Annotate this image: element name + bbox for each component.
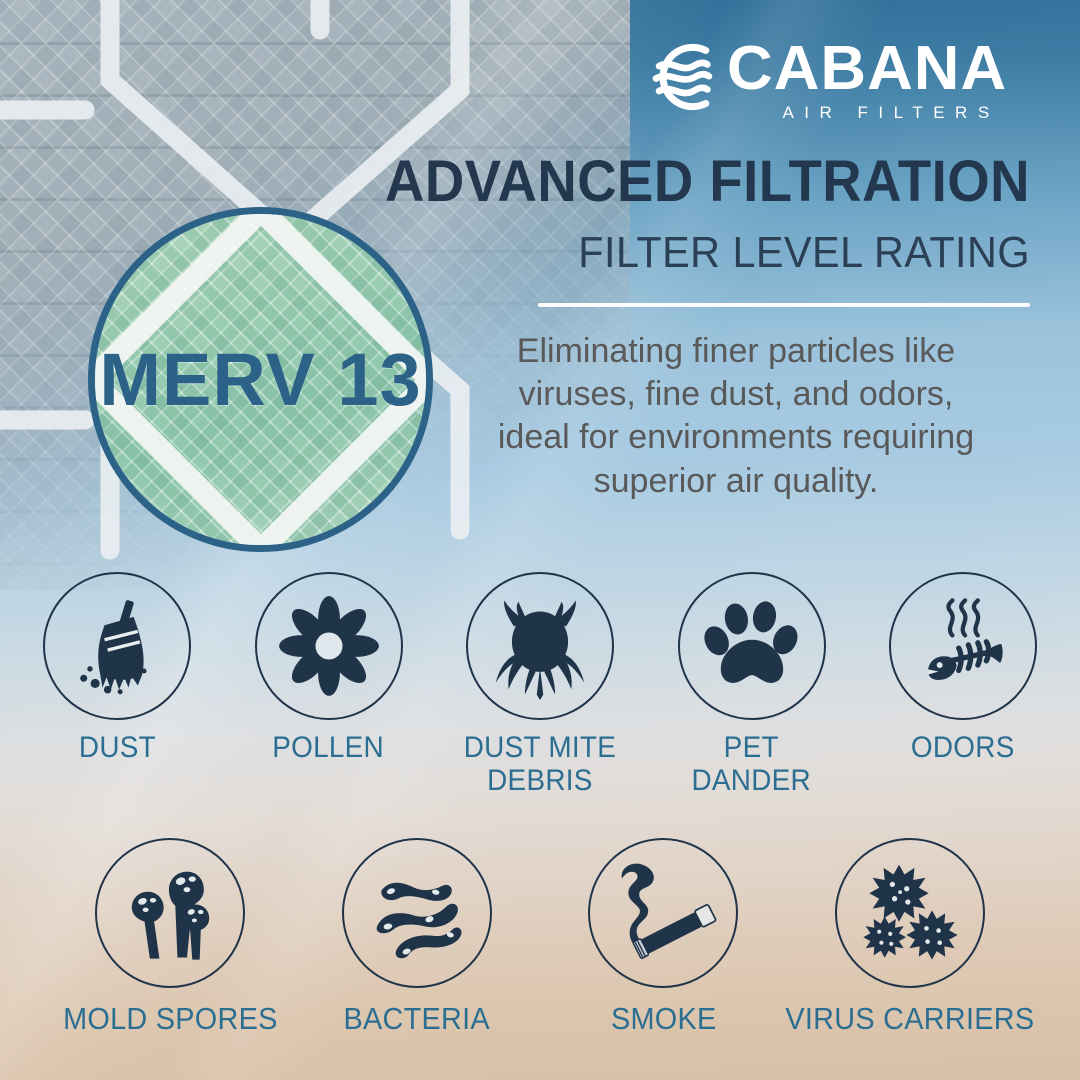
- poster-canvas: CABANA AIR FILTERS ADVANCED FILTRATION F…: [0, 0, 1080, 1080]
- virus-carriers-label: VIRUS CARRIERS: [785, 1002, 1034, 1036]
- broom-icon: [65, 594, 169, 698]
- pet-dander-badge: [678, 572, 826, 720]
- page-subtitle: FILTER LEVEL RATING: [372, 228, 1030, 278]
- brand-name: CABANA: [727, 40, 1007, 99]
- contaminant-item-pet-dander: PET DANDER: [659, 572, 845, 797]
- odors-badge: [889, 572, 1037, 720]
- pet-dander-label-line2: DANDER: [692, 764, 811, 797]
- contaminant-item-odors: ODORS: [870, 572, 1056, 797]
- contaminant-item-bacteria: BACTERIA: [305, 838, 529, 1036]
- dust-badge: [43, 572, 191, 720]
- wave-circle-icon: [645, 38, 723, 116]
- merv-rating-label: MERV 13: [95, 214, 426, 545]
- flower-icon: [277, 594, 381, 698]
- dust-mite-label: DUST MITE DEBRIS: [464, 731, 616, 797]
- pollen-badge: [255, 572, 403, 720]
- contaminant-item-dust: DUST: [24, 572, 210, 797]
- description-text: Eliminating finer particles like viruses…: [440, 330, 1032, 503]
- dust-mite-icon: [486, 592, 594, 700]
- description-line-2: viruses, fine dust, and odors,: [440, 373, 1032, 416]
- dust-label: DUST: [78, 731, 155, 764]
- smoke-label: SMOKE: [611, 1002, 717, 1036]
- bacteria-icon: [365, 861, 469, 965]
- bacteria-label: BACTERIA: [343, 1002, 489, 1036]
- paw-print-icon: [700, 594, 804, 698]
- fish-bone-odor-icon: [910, 593, 1016, 699]
- pet-dander-label-line1: PET: [724, 731, 779, 764]
- contaminant-row-2: MOLD SPORES: [58, 838, 1022, 1036]
- dust-mite-label-line1: DUST MITE: [464, 731, 616, 764]
- mold-spores-label: MOLD SPORES: [63, 1002, 278, 1036]
- divider-rule: [538, 303, 1030, 307]
- smoke-badge: [588, 838, 738, 988]
- contaminant-item-smoke: SMOKE: [551, 838, 775, 1036]
- description-line-4: superior air quality.: [440, 460, 1032, 503]
- mold-spores-badge: [95, 838, 245, 988]
- merv-rating-badge: MERV 13: [88, 207, 433, 552]
- mold-spores-icon: [117, 860, 223, 966]
- pet-dander-label: PET DANDER: [692, 731, 811, 797]
- dust-mite-badge: [466, 572, 614, 720]
- page-title: ADVANCED FILTRATION: [372, 148, 1030, 215]
- contaminant-item-pollen: POLLEN: [236, 572, 422, 797]
- cigarette-smoke-icon: [609, 859, 717, 967]
- odors-label: ODORS: [911, 731, 1015, 764]
- description-line-1: Eliminating finer particles like: [440, 330, 1032, 373]
- contaminant-item-virus-carriers: VIRUS CARRIERS: [798, 838, 1022, 1036]
- dust-mite-label-line2: DEBRIS: [487, 764, 593, 797]
- bacteria-badge: [342, 838, 492, 988]
- contaminant-item-mold-spores: MOLD SPORES: [58, 838, 282, 1036]
- brand-logo: CABANA AIR FILTERS: [645, 38, 1002, 123]
- brand-subtitle: AIR FILTERS: [727, 103, 1002, 123]
- description-line-3: ideal for environments requiring: [440, 416, 1032, 459]
- virus-carriers-badge: [835, 838, 985, 988]
- pollen-label: POLLEN: [273, 731, 385, 764]
- contaminant-row-1: DUST: [24, 572, 1056, 797]
- virus-particles-icon: [855, 858, 965, 968]
- contaminant-item-dust-mite: DUST MITE DEBRIS: [447, 572, 633, 797]
